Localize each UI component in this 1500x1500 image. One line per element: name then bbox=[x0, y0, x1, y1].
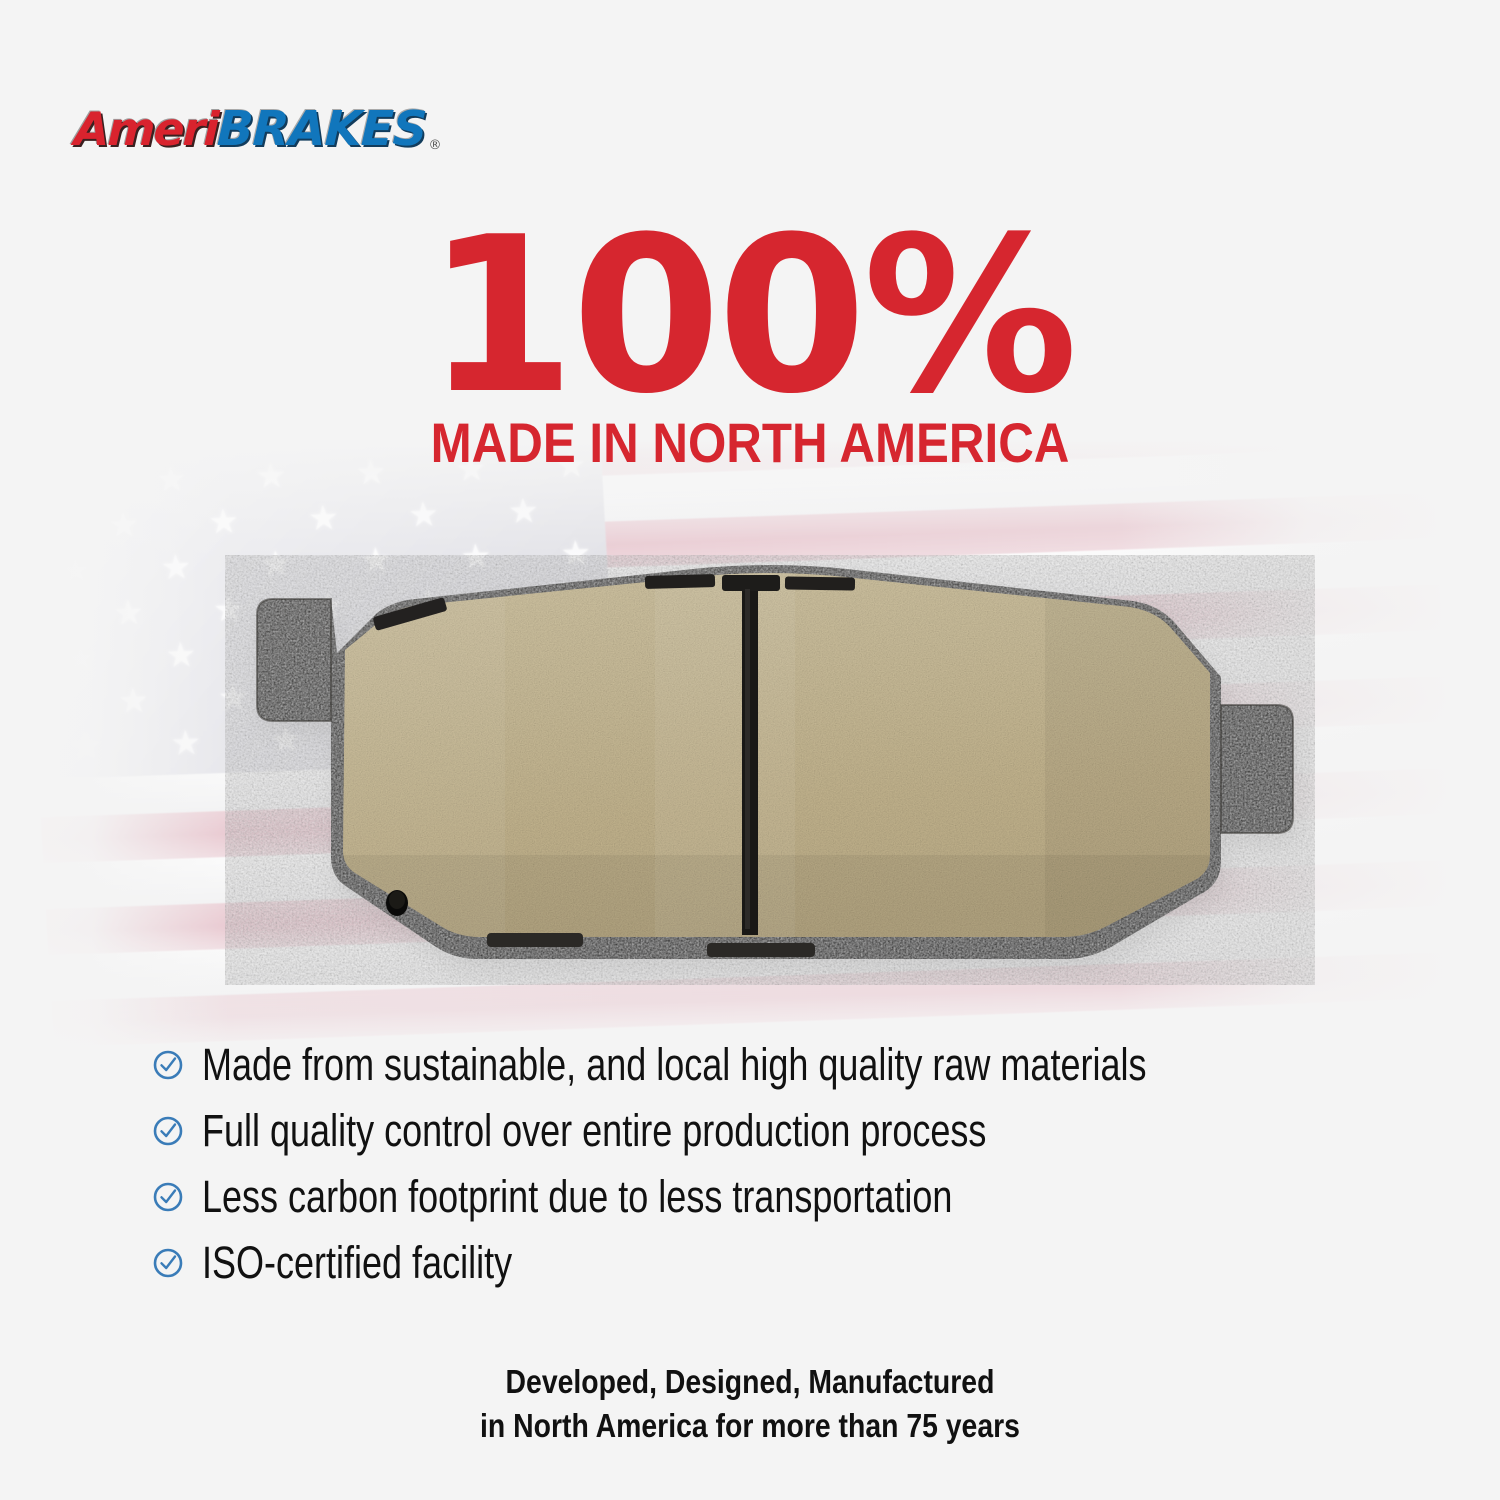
footer-line-2: in North America for more than 75 years bbox=[105, 1404, 1395, 1448]
flag-star-icon: ★ bbox=[65, 641, 97, 676]
friction-material bbox=[325, 555, 1235, 955]
flag-star-icon: ★ bbox=[507, 494, 539, 529]
flag-star-icon: ★ bbox=[160, 550, 192, 585]
page-title: 100% bbox=[0, 208, 1500, 423]
flag-star-icon: ★ bbox=[55, 466, 87, 501]
feature-label: ISO-certified facility bbox=[202, 1240, 512, 1285]
flag-fade-left bbox=[0, 440, 230, 1080]
list-item: Less carbon footprint due to less transp… bbox=[152, 1172, 1352, 1220]
flag-star-icon: ★ bbox=[407, 497, 439, 532]
feature-label: Made from sustainable, and local high qu… bbox=[202, 1042, 1146, 1087]
feature-list: Made from sustainable, and local high qu… bbox=[152, 1040, 1352, 1304]
list-item: ISO-certified facility bbox=[152, 1238, 1352, 1286]
ameribrakes-logo[interactable]: AmeriBRAKES® bbox=[74, 101, 440, 157]
check-circle-icon bbox=[152, 1049, 184, 1081]
footer-text: Developed, Designed, Manufactured in Nor… bbox=[0, 1360, 1500, 1447]
brake-pad-image bbox=[225, 555, 1315, 985]
logo-text-ameri: Ameri bbox=[73, 102, 218, 156]
flag-star-icon: ★ bbox=[112, 596, 144, 631]
flag-star-icon: ★ bbox=[60, 554, 92, 589]
list-item: Made from sustainable, and local high qu… bbox=[152, 1040, 1352, 1088]
flag-star-icon: ★ bbox=[207, 504, 239, 539]
flag-star-icon: ★ bbox=[165, 638, 197, 673]
check-circle-icon bbox=[152, 1115, 184, 1147]
flag-star-icon: ★ bbox=[307, 501, 339, 536]
flag-star-icon: ★ bbox=[117, 684, 149, 719]
brake-pad-illustration bbox=[225, 555, 1315, 985]
check-circle-icon bbox=[152, 1181, 184, 1213]
marketing-banner: ★★★★★★★★★★★★★★★★★★★★★★★★★★★★★★★★★★★★★★★ … bbox=[0, 0, 1500, 1500]
flag-star-icon: ★ bbox=[70, 729, 102, 764]
registered-trademark-icon: ® bbox=[428, 138, 440, 157]
list-item: Full quality control over entire product… bbox=[152, 1106, 1352, 1154]
flag-star-icon: ★ bbox=[107, 508, 139, 543]
check-circle-icon bbox=[152, 1247, 184, 1279]
feature-label: Full quality control over entire product… bbox=[202, 1108, 986, 1153]
feature-label: Less carbon footprint due to less transp… bbox=[202, 1174, 952, 1219]
footer-line-1: Developed, Designed, Manufactured bbox=[105, 1360, 1395, 1404]
flag-star-icon: ★ bbox=[170, 726, 202, 761]
logo-text-brakes: BRAKES bbox=[216, 101, 427, 157]
page-subtitle: MADE IN NORTH AMERICA bbox=[90, 415, 1410, 471]
